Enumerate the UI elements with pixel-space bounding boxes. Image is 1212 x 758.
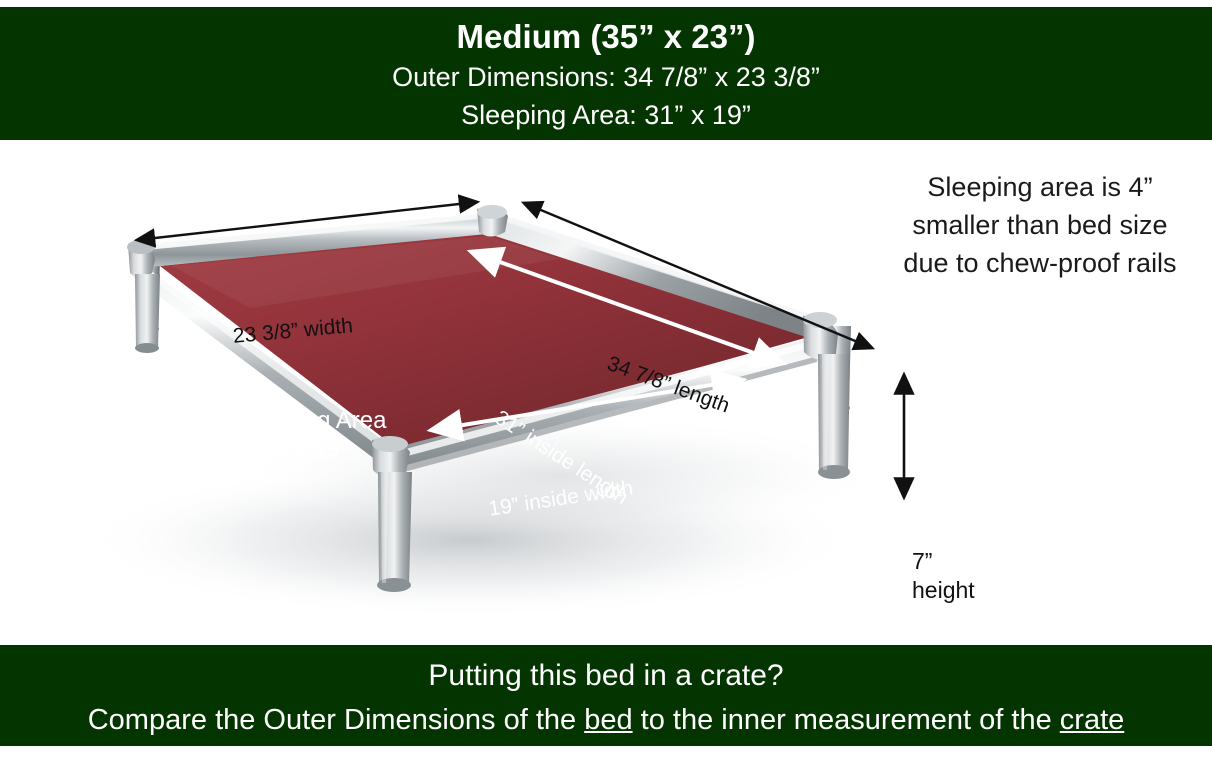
dog-bed-illustration: 23 3/8” width 34 7/8” length 7” height S… [0, 140, 1212, 645]
compare-word-bed: bed [584, 704, 632, 736]
crate-question: Putting this bed in a crate? [0, 653, 1212, 698]
leg-front-center [377, 472, 412, 592]
corner-joint-top [477, 205, 508, 237]
compare-text-part-1: Compare the Outer Dimensions of the [88, 704, 584, 736]
bottom-banner: Putting this bed in a crate? Compare the… [0, 645, 1212, 746]
corner-joint-right [803, 312, 838, 360]
outer-dimensions-line: Outer Dimensions: 34 7/8” x 23 3/8” [0, 58, 1212, 96]
page-title: Medium (35” x 23”) [0, 16, 1212, 58]
crate-compare-line: Compare the Outer Dimensions of the bed … [0, 698, 1212, 742]
corner-joint-left [127, 240, 155, 278]
compare-text-part-2: to the inner measurement of the [633, 704, 1060, 736]
compare-word-crate: crate [1060, 704, 1124, 736]
leg-front-left [135, 274, 160, 353]
corner-joint-front [372, 436, 410, 478]
label-sleeping-area-title: Sleeping Area [237, 407, 386, 435]
leg-right [818, 354, 850, 479]
label-sleeping-area-size: 31” x 19” [253, 436, 348, 464]
label-height-word: height [912, 577, 975, 604]
page-root: Medium (35” x 23”) Outer Dimensions: 34 … [0, 0, 1212, 758]
sleeping-area-line: Sleeping Area: 31” x 19” [0, 96, 1212, 134]
label-height-value: 7” [912, 548, 932, 575]
dog-bed-drawing [0, 140, 1212, 645]
top-banner: Medium (35” x 23”) Outer Dimensions: 34 … [0, 7, 1212, 140]
